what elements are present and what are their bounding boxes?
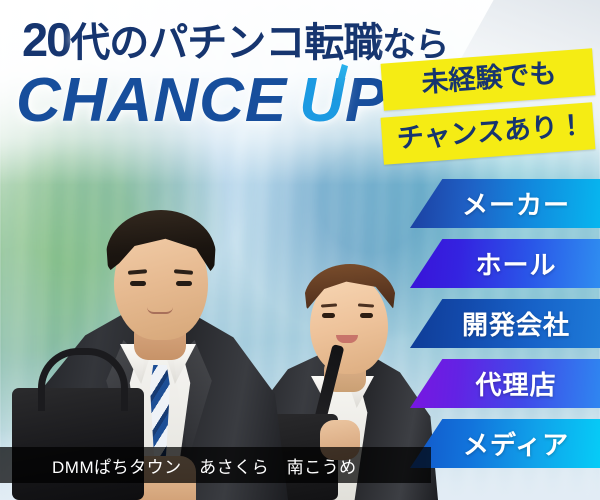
menu-item-maker[interactable]: メーカー	[410, 179, 600, 228]
menu-item-hall[interactable]: ホール	[410, 239, 600, 288]
credit-text: DMMぱちタウン あさくら 南こうめ	[0, 453, 357, 478]
headline-number: 20	[22, 13, 70, 66]
logo-chance-up: CHANCEUP	[16, 70, 387, 132]
category-menu: メーカー ホール 開発会社 代理店 メディア	[410, 179, 600, 468]
menu-item-media[interactable]: メディア	[410, 419, 600, 468]
logo-word-chance: CHANCE	[16, 66, 287, 135]
menu-item-development-company[interactable]: 開発会社	[410, 299, 600, 348]
woman-eye-left	[322, 313, 335, 318]
promo-badges: 未経験でも チャンスあり！	[382, 56, 594, 157]
menu-item-label: メディア	[441, 425, 569, 462]
menu-item-agency[interactable]: 代理店	[410, 359, 600, 408]
logo-letter-u: U	[299, 70, 345, 132]
man-bag	[12, 388, 144, 500]
credit-bar: DMMぱちタウン あさくら 南こうめ	[0, 447, 431, 483]
badge-chance-available: チャンスあり！	[381, 102, 596, 164]
people-photo	[0, 140, 430, 500]
ad-banner[interactable]: 20代のパチンコ転職なら CHANCEUP 未経験でも チャンスあり！ メーカー…	[0, 0, 600, 500]
man-mouth	[147, 307, 173, 314]
headline-main-text: 代のパチンコ転職	[70, 21, 382, 65]
logo-letter-u-text: U	[299, 66, 345, 135]
man-eye-right	[176, 281, 192, 286]
badge-no-experience: 未経験でも	[381, 48, 596, 110]
menu-item-label: メーカー	[440, 185, 570, 222]
menu-item-label: ホール	[453, 245, 556, 282]
woman-eye-right	[360, 313, 373, 318]
menu-item-label: 開発会社	[440, 305, 570, 342]
menu-item-label: 代理店	[453, 365, 556, 402]
man-eye-left	[130, 281, 146, 286]
